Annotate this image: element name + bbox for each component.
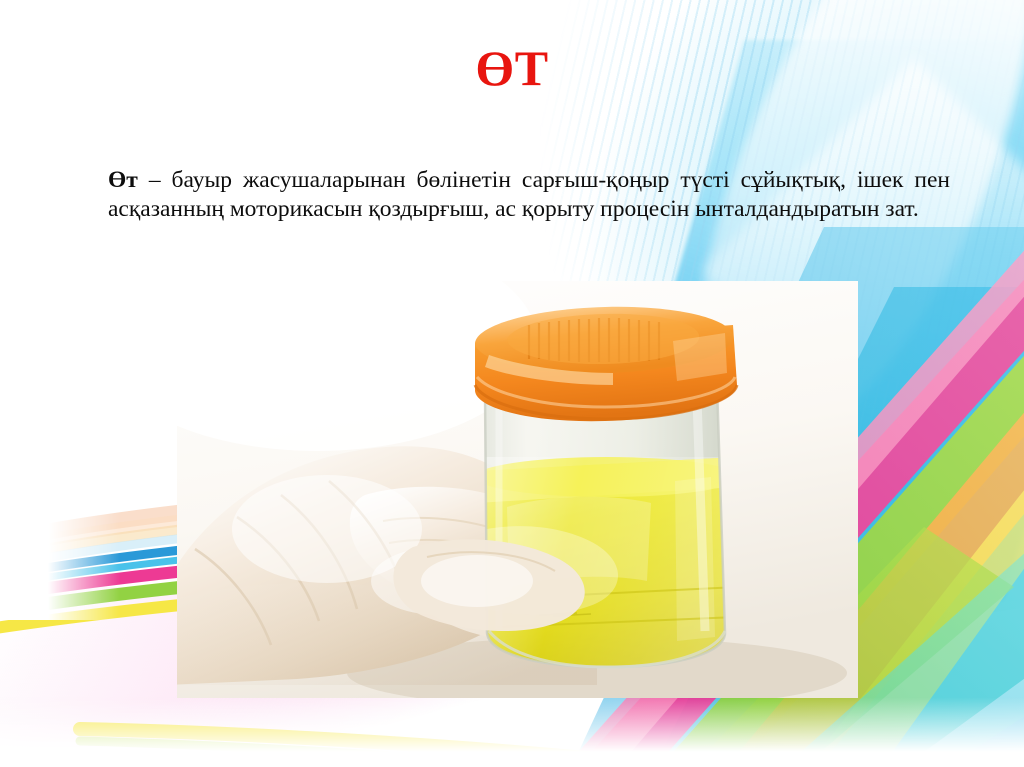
body-text-rest: – бауыр жасушаларынан бөлінетін сарғыш-қ… [108, 167, 950, 222]
lead-term: Өт [108, 167, 138, 193]
page-title: ӨТ [0, 42, 1024, 95]
presentation-slide: ӨТ Өт – бауыр жасушаларынан бөлінетін са… [0, 0, 1024, 767]
specimen-jar-photo [177, 281, 858, 698]
specimen-jar [475, 385, 739, 687]
orange-jar-cap [475, 307, 737, 421]
body-paragraph: Өт – бауыр жасушаларынан бөлінетін сарғы… [108, 166, 950, 224]
slide-content: ӨТ Өт – бауыр жасушаларынан бөлінетін са… [0, 0, 1024, 767]
